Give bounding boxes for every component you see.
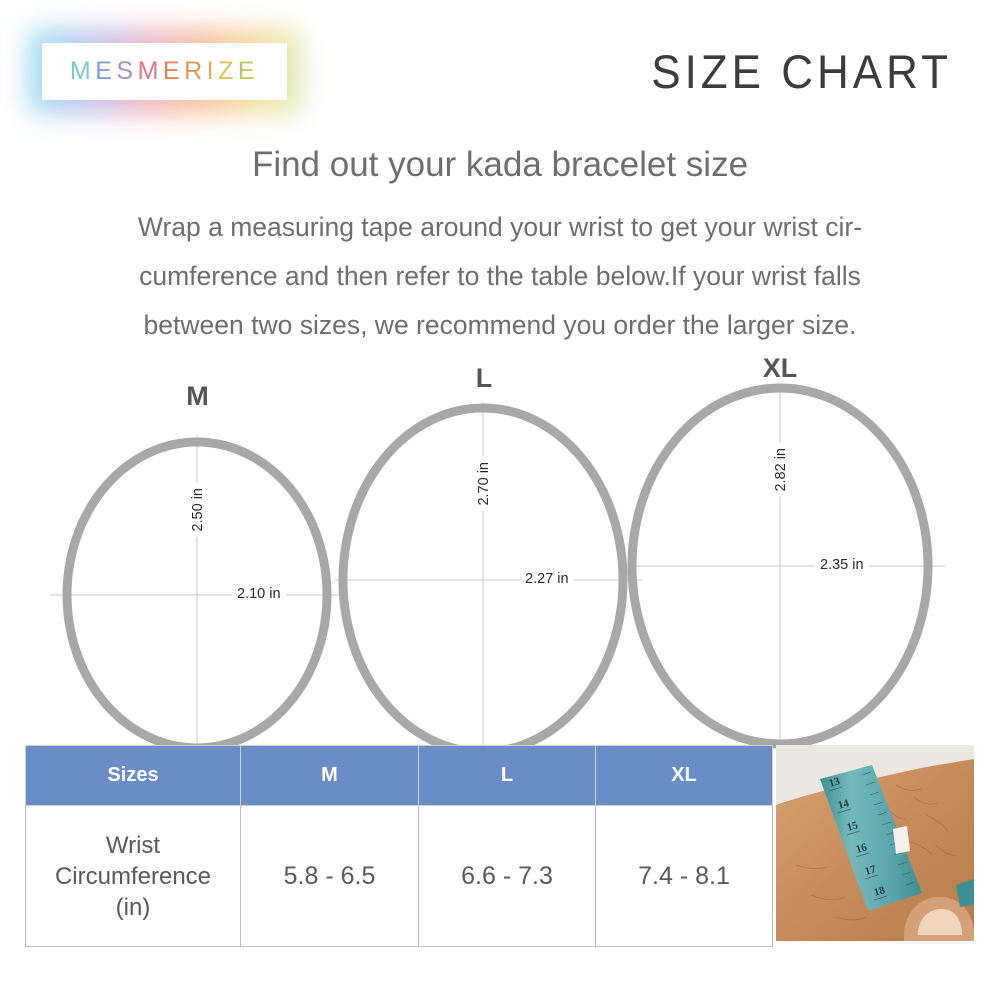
intro-line-2: cumference and then refer to the table b… [48,252,952,301]
oval-width-label-l: 2.27 in [520,571,574,587]
oval-group-m: M 2.50 in 2.10 in [40,383,350,750]
cell-wrist-m: 5.8 - 6.5 [241,806,419,947]
brand-logo: MESMERIZE [42,43,287,100]
table-header-xl: XL [596,746,773,806]
logo-box: MESMERIZE [42,43,287,100]
oval-width-label-xl: 2.35 in [815,557,869,573]
oval-shape-m [40,383,350,750]
oval-diagrams: M 2.50 in 2.10 in L 2.70 in 2.27 in XL 2… [0,355,1000,750]
logo-letter-3: S [116,57,137,86]
oval-group-xl: XL 2.82 in 2.35 in [620,355,950,750]
logo-letter-9: E [238,57,259,86]
oval-width-label-m: 2.10 in [232,586,286,602]
size-table: Sizes M L XL Wrist Circumference (in) 5.… [25,745,773,947]
oval-shape-xl [620,355,950,750]
table-row: Wrist Circumference (in) 5.8 - 6.5 6.6 -… [26,806,773,947]
cell-wrist-l: 6.6 - 7.3 [419,806,596,947]
oval-height-label-xl: 2.82 in [773,443,789,497]
intro-line-3: between two sizes, we recommend you orde… [48,301,952,350]
row-label-line-2: Circumference [27,861,239,892]
oval-height-label-m: 2.50 in [190,483,206,537]
headline: Find out your kada bracelet size [0,145,1000,185]
row-label-wrist-circumference: Wrist Circumference (in) [26,806,241,947]
table-header-m: M [241,746,419,806]
row-label-line-1: Wrist [27,830,239,861]
table-header-l: L [419,746,596,806]
logo-letter-5: E [163,57,184,86]
wrist-measurement-photo: 13 14 15 16 17 18 [776,745,974,941]
row-label-line-3: (in) [27,892,239,923]
intro-line-1: Wrap a measuring tape around your wrist … [48,203,952,252]
logo-letter-7: I [207,57,218,86]
intro-paragraph: Wrap a measuring tape around your wrist … [48,203,952,350]
cell-wrist-xl: 7.4 - 8.1 [596,806,773,947]
logo-letter-6: R [184,57,207,86]
logo-letter-2: E [95,57,116,86]
oval-height-label-l: 2.70 in [476,457,492,511]
oval-shape-l [330,365,650,750]
logo-letter-1: M [70,57,95,86]
table-header-sizes: Sizes [26,746,241,806]
oval-group-l: L 2.70 in 2.27 in [330,365,650,750]
table-header-row: Sizes M L XL [26,746,773,806]
logo-wordmark: MESMERIZE [70,57,259,86]
logo-letter-8: Z [218,57,238,86]
logo-letter-4: M [138,57,163,86]
page-title: SIZE CHART [651,46,952,100]
